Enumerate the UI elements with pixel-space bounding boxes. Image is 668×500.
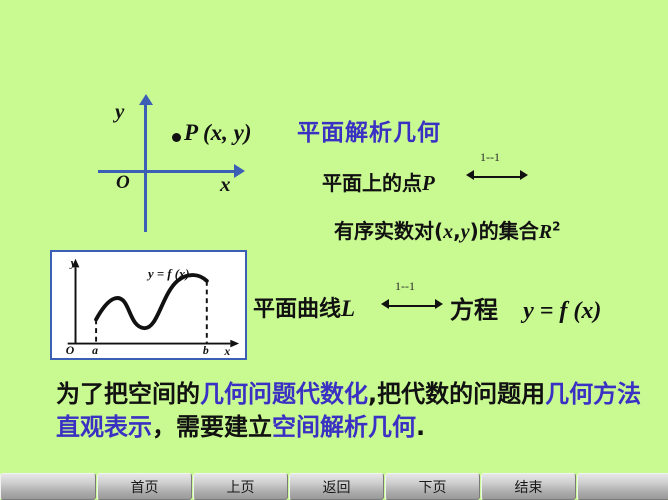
para-seg-6-highlight: 空间解析几何: [272, 413, 416, 441]
row-set-math-r: R: [539, 221, 552, 243]
page-title: 平面解析几何: [297, 113, 441, 147]
origin-label: O: [116, 172, 130, 194]
x-axis-label: x: [220, 172, 231, 197]
para-seg-5: ，需要建立: [152, 413, 272, 441]
para-seg-2-highlight: 几何问题代数化: [200, 380, 368, 408]
inset-x-arrow-icon: [230, 340, 239, 348]
row-set-text-a: 有序实数对(: [334, 219, 443, 243]
summary-paragraph: 为了把空间的几何问题代数化,把代数的问题用几何方法直观表示，需要建立空间解析几何…: [56, 378, 656, 444]
x-axis-arrow-icon: [234, 164, 245, 178]
nav-spacer-6: [577, 473, 668, 500]
para-seg-3: ,把代数的问题用: [368, 380, 545, 408]
navigation-bar: 首页上页返回下页结束: [0, 473, 668, 500]
inset-origin-label: O: [66, 344, 75, 357]
inset-tick-a-label: a: [92, 344, 98, 357]
function-graph-inset: O a b x y y = f (x): [50, 250, 247, 360]
row-set-comma: ,: [453, 219, 461, 243]
inset-x-label: x: [223, 345, 230, 358]
row-equation-text: 方程: [450, 296, 498, 324]
row-plane-point: 平面上的点P: [322, 167, 435, 196]
point-dot-icon: [172, 133, 181, 142]
correspondence-arrow-2-icon: 1--1: [381, 295, 443, 317]
function-graph-svg: O a b x y y = f (x): [52, 252, 245, 358]
inset-y-label: y: [69, 257, 77, 270]
arrow-1-caption: 1--1: [480, 150, 500, 165]
nav-button-3[interactable]: 返回: [289, 473, 384, 500]
para-seg-1: 为了把空间的: [56, 380, 200, 408]
inset-curve: [96, 275, 207, 328]
y-axis-arrow-icon: [139, 94, 153, 105]
slide-canvas: y x O P (x, y) 平面解析几何 平面上的点P 1--1 有序实数对(…: [0, 0, 668, 500]
arrow-2-shaft: [388, 305, 436, 307]
arrow-1-head-right: [520, 170, 528, 180]
correspondence-arrow-1-icon: 1--1: [466, 166, 528, 188]
arrow-2-caption: 1--1: [395, 279, 415, 294]
row-set-text-b: )的集合: [470, 219, 539, 243]
row-curve-math: L: [341, 296, 355, 321]
row-ordered-pair-set: 有序实数对(x,y)的集合R2: [334, 215, 560, 244]
row-plane-curve: 平面曲线L: [253, 291, 355, 323]
row-plane-point-text: 平面上的点: [322, 171, 422, 195]
row-set-math-x: x: [443, 221, 453, 243]
row-plane-point-math: P: [422, 171, 435, 195]
row-equation-math: y = f (x): [523, 298, 601, 324]
plane-coordinate-axes: y x O P (x, y): [98, 100, 248, 232]
row-set-superscript: 2: [552, 219, 560, 233]
nav-button-5[interactable]: 结束: [481, 473, 576, 500]
inset-curve-label: y = f (x): [146, 267, 190, 281]
row-equation: 方程 y = f (x): [450, 290, 601, 325]
nav-spacer-0: [0, 473, 96, 500]
arrow-2-head-right: [435, 299, 443, 309]
arrow-1-shaft: [473, 176, 521, 178]
para-seg-7: .: [416, 413, 425, 441]
arrow-1-head-left: [466, 170, 474, 180]
row-curve-text: 平面曲线: [253, 297, 341, 322]
point-p-label: P (x, y): [184, 120, 251, 146]
arrow-2-head-left: [381, 299, 389, 309]
y-axis-line: [144, 104, 147, 232]
nav-button-2[interactable]: 上页: [193, 473, 288, 500]
nav-button-4[interactable]: 下页: [385, 473, 480, 500]
nav-button-1[interactable]: 首页: [97, 473, 192, 500]
inset-tick-b-label: b: [203, 344, 209, 357]
row-set-math-y: y: [461, 221, 470, 243]
y-axis-label: y: [115, 99, 124, 124]
